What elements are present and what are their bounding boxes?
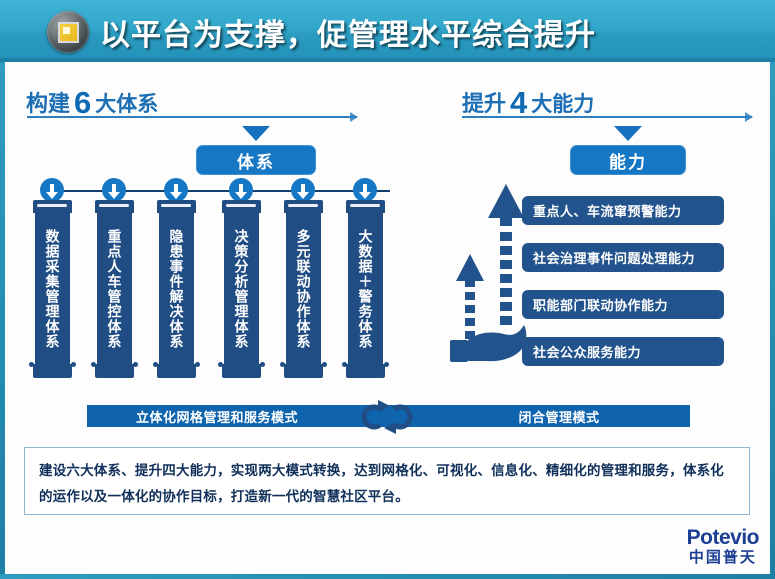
pillar-top-roll: [157, 200, 196, 213]
pillar-body: 重点人车管控体系: [97, 213, 132, 365]
pillar-label: 数据采集管理体系: [45, 229, 61, 349]
left-section-rule: [27, 116, 357, 118]
pillar-top-roll: [284, 200, 323, 213]
pillar-down-arrow-icon: [102, 178, 126, 202]
pillar-top-roll: [33, 200, 72, 213]
left-heading-prefix: 构建: [26, 91, 70, 116]
pillar-label: 隐患事件解决体系: [169, 229, 185, 349]
mode-bar-right[interactable]: 闭合管理模式: [428, 405, 690, 427]
pillar-body: 决策分析管理体系: [224, 213, 259, 365]
brand-logo-cn: 中国普天: [687, 549, 759, 567]
pillar-top-roll: [222, 200, 261, 213]
left-heading-suffix: 大体系: [95, 93, 158, 116]
square-badge-glyph: [58, 22, 79, 43]
pillar-top-roll: [95, 200, 134, 213]
pillar-down-arrow-icon: [291, 178, 315, 202]
pillar-item[interactable]: 大数据＋警务体系: [346, 200, 385, 378]
page-title: 以平台为支撑，促管理水平综合提升: [100, 10, 596, 54]
pillar-item[interactable]: 多元联动协作体系: [284, 200, 323, 378]
right-heading-number: 4: [510, 85, 527, 120]
pillar-down-arrow-icon: [353, 178, 377, 202]
right-heading-prefix: 提升: [462, 91, 506, 116]
summary-text: 建设六大体系、提升四大能力，实现两大模式转换，达到网格化、可视化、信息化、精细化…: [39, 458, 735, 510]
frame-left-edge: [0, 60, 5, 579]
pillar-down-arrow-icon: [164, 178, 188, 202]
pillar-label: 决策分析管理体系: [234, 229, 250, 349]
pillar-body: 多元联动协作体系: [286, 213, 321, 365]
pillar-body: 数据采集管理体系: [35, 213, 70, 365]
summary-box: 建设六大体系、提升四大能力，实现两大模式转换，达到网格化、可视化、信息化、精细化…: [24, 447, 750, 515]
right-hub-box[interactable]: 能力: [570, 145, 686, 175]
pillar-connector-line: [45, 190, 390, 192]
capability-item[interactable]: 重点人、车流窜预警能力: [522, 196, 724, 225]
pillar-item[interactable]: 隐患事件解决体系: [157, 200, 196, 378]
pillar-top-roll: [346, 200, 385, 213]
pillar-label: 多元联动协作体系: [296, 229, 312, 349]
right-section-rule: [462, 116, 752, 118]
slide-canvas: 以平台为支撑，促管理水平综合提升 构建6大体系 体系 数据采集管理体系重点人车管…: [0, 0, 775, 579]
right-hub-triangle-icon: [614, 126, 642, 141]
brand-logo: Potevio 中国普天: [687, 527, 759, 567]
pillar-foot: [95, 364, 134, 378]
pillar-down-arrow-icon: [40, 178, 64, 202]
left-heading-number: 6: [74, 85, 91, 120]
pillar-foot: [346, 364, 385, 378]
pillar-foot: [284, 364, 323, 378]
cycle-arrows-icon: [358, 396, 416, 438]
capability-item[interactable]: 社会治理事件问题处理能力: [522, 243, 724, 272]
title-bar: 以平台为支撑，促管理水平综合提升: [0, 0, 775, 62]
pillar-foot: [222, 364, 261, 378]
pillar-item[interactable]: 数据采集管理体系: [33, 200, 72, 378]
pillar-body: 大数据＋警务体系: [348, 213, 383, 365]
pillar-item[interactable]: 决策分析管理体系: [222, 200, 261, 378]
pillar-body: 隐患事件解决体系: [159, 213, 194, 365]
capability-item[interactable]: 社会公众服务能力: [522, 337, 724, 366]
frame-bottom-edge: [0, 574, 775, 579]
mode-bar-left[interactable]: 立体化网格管理和服务模式: [87, 405, 347, 427]
pillar-item[interactable]: 重点人车管控体系: [95, 200, 134, 378]
pillar-foot: [33, 364, 72, 378]
pillar-down-arrow-icon: [229, 178, 253, 202]
left-hub-triangle-icon: [242, 126, 270, 141]
right-heading-suffix: 大能力: [531, 93, 594, 116]
pillar-label: 重点人车管控体系: [107, 229, 123, 349]
pillar-foot: [157, 364, 196, 378]
pillar-label: 大数据＋警务体系: [358, 229, 374, 349]
brand-logo-en: Potevio: [687, 527, 759, 549]
frame-right-edge: [770, 60, 775, 579]
left-hub-box[interactable]: 体系: [196, 145, 316, 175]
capability-item[interactable]: 职能部门联动协作能力: [522, 290, 724, 319]
square-badge-icon: [47, 11, 89, 53]
